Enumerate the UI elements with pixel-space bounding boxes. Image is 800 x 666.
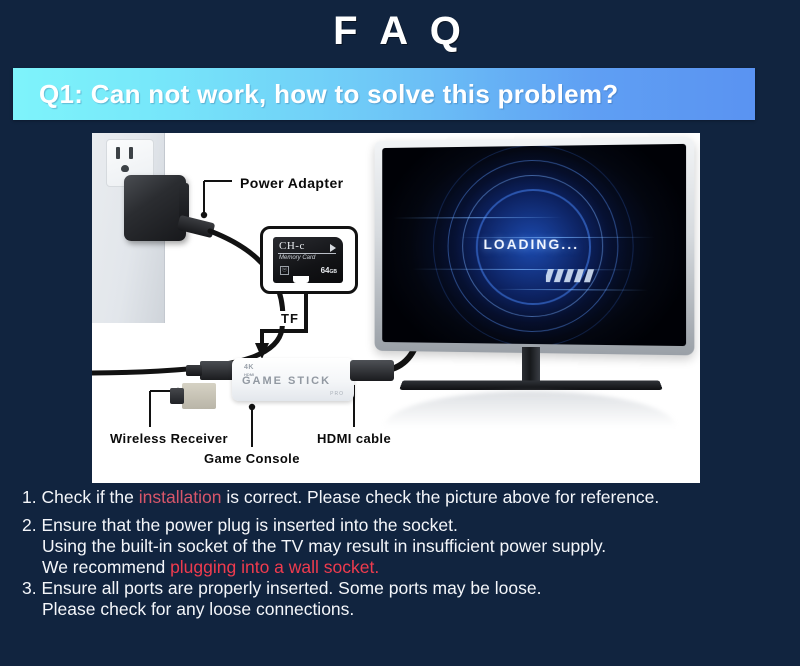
note-item-1: 1. Check if the installation is correct.… xyxy=(22,487,800,508)
notes-spacer-1 xyxy=(22,508,800,515)
hdmi-connector-left xyxy=(200,361,234,380)
setup-diagram-image: CH-c Memory Card ⓤ 64GB TF 4K HDMI GAME … xyxy=(92,133,700,483)
note-2-number: 2. xyxy=(22,515,37,535)
game-console-device: 4K HDMI GAME STICK PRO xyxy=(232,358,354,401)
note-item-3: 3. Ensure all ports are properly inserte… xyxy=(22,578,800,599)
page-title: F A Q xyxy=(0,4,800,58)
question-banner: Q1: Can not work, how to solve this prob… xyxy=(13,68,755,120)
tf-card-divider xyxy=(278,253,336,254)
screen-loading-text: LOADING... xyxy=(382,236,686,252)
note-2-line-2-row: Using the built-in socket of the TV may … xyxy=(22,536,800,557)
label-game-console: Game Console xyxy=(204,451,300,466)
label-tf: TF xyxy=(278,311,302,326)
tf-card-capacity: 64GB xyxy=(321,266,337,275)
note-3-line-1: Ensure all ports are properly inserted. … xyxy=(41,578,541,598)
note-item-2: 2. Ensure that the power plug is inserte… xyxy=(22,515,800,536)
tf-card-memory-text: Memory Card xyxy=(279,255,321,262)
screen-progress-bars xyxy=(546,269,600,282)
faq-page: F A Q Q1: Can not work, how to solve thi… xyxy=(0,0,800,666)
note-3-line-2-row: Please check for any loose connections. xyxy=(22,599,800,620)
note-3-number: 3. xyxy=(22,578,37,598)
note-2-line-2: Using the built-in socket of the TV may … xyxy=(42,536,606,556)
tf-card-arrow-icon xyxy=(330,244,336,252)
tf-capacity-unit: GB xyxy=(330,269,338,275)
game-stick-4k-text: 4K xyxy=(244,364,254,371)
game-stick-submark: PRO xyxy=(330,391,344,397)
note-2-highlight: plugging into a wall socket. xyxy=(170,557,379,577)
wireless-receiver-device xyxy=(182,383,216,409)
label-hdmi-cable: HDMI cable xyxy=(317,431,391,446)
label-power-adapter: Power Adapter xyxy=(240,175,343,191)
monitor-base xyxy=(399,380,662,389)
monitor-neck xyxy=(522,347,540,381)
note-3-line-2: Please check for any loose connections. xyxy=(42,599,354,619)
tf-card-callout: CH-c Memory Card ⓤ 64GB xyxy=(260,226,358,294)
tf-card-mark-icon: ⓤ xyxy=(280,266,289,275)
monitor-screen: LOADING... xyxy=(382,144,686,346)
monitor-bezel: LOADING... xyxy=(375,137,695,356)
tf-capacity-number: 64 xyxy=(321,266,330,275)
note-2-line-3-row: We recommend plugging into a wall socket… xyxy=(22,557,800,578)
note-1-highlight: installation xyxy=(139,487,222,507)
note-1-text-b: is correct. Please check the picture abo… xyxy=(221,487,659,507)
monitor: LOADING... xyxy=(370,139,692,385)
troubleshooting-notes: 1. Check if the installation is correct.… xyxy=(22,487,800,620)
note-2-text-a: We recommend xyxy=(42,557,170,577)
note-1-text-a: Check if the xyxy=(41,487,138,507)
label-wireless-receiver: Wireless Receiver xyxy=(110,431,228,446)
note-2-line-1: Ensure that the power plug is inserted i… xyxy=(41,515,457,535)
tf-card: CH-c Memory Card ⓤ 64GB xyxy=(273,237,343,283)
tf-card-brand: CH-c xyxy=(279,240,305,252)
question-text: Q1: Can not work, how to solve this prob… xyxy=(13,79,618,110)
note-1-number: 1. xyxy=(22,487,37,507)
game-stick-name: GAME STICK xyxy=(242,375,331,387)
